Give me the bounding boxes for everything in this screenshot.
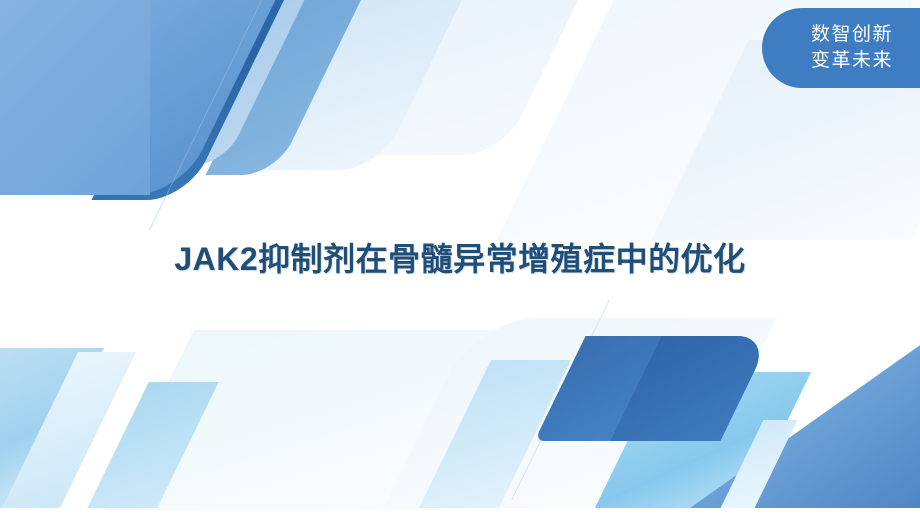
diagonal-band-blue <box>206 0 381 175</box>
bottom-center-light-bar <box>419 360 571 508</box>
page-title: JAK2抑制剂在骨髓异常增殖症中的优化 <box>0 234 920 280</box>
diagonal-band-mid <box>178 0 324 165</box>
top-left-blue-block <box>0 0 290 195</box>
hairline-stroke-bottom <box>511 300 610 500</box>
bottom-right-triangle <box>690 338 920 508</box>
bottom-left-triangle <box>0 348 104 508</box>
brand-badge-line-2: 变革未来 <box>811 48 893 74</box>
diagonal-band-faint <box>352 0 597 155</box>
brand-badge-line-1: 数智创新 <box>811 22 893 48</box>
title-slide: 数智创新 变革未来 JAK2抑制剂在骨髓异常增殖症中的优化 <box>0 0 920 518</box>
diagonal-band-pale <box>259 0 481 170</box>
bottom-right-light-bar <box>595 372 811 508</box>
top-left-blue-fill <box>0 0 150 195</box>
hairline-stroke-top <box>149 0 272 230</box>
bottom-left-bar-2 <box>87 382 218 508</box>
bottom-right-dark-ribbon <box>534 336 770 441</box>
bottom-left-wash-shape <box>106 330 524 510</box>
brand-badge: 数智创新 变革未来 <box>762 8 920 88</box>
bottom-left-bar-1 <box>2 352 136 508</box>
bottom-right-dark-cap <box>610 336 771 441</box>
diagonal-band-navy <box>91 0 303 200</box>
bottom-center-wash-shape <box>384 318 777 508</box>
bottom-right-sliver <box>721 420 798 508</box>
